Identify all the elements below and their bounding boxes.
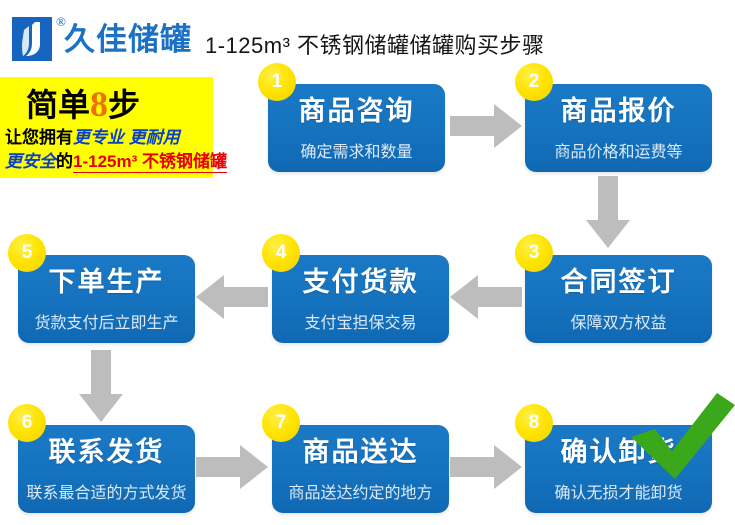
- step-sub-4: 支付宝担保交易: [272, 316, 449, 332]
- arrow-step7-to-step8: [450, 445, 522, 489]
- step-badge-5: 5: [8, 234, 46, 272]
- step-box-6[interactable]: 联系发货 联系最合适的方式发货: [18, 425, 195, 513]
- step-box-3[interactable]: 合同签订 保障双方权益: [525, 255, 712, 343]
- step-box-7[interactable]: 商品送达 商品送达约定的地方: [272, 425, 449, 513]
- arrow-step5-to-step6: [79, 350, 123, 422]
- arrow-step4-to-step5: [196, 275, 268, 319]
- promo-banner: 简单8步 让您拥有更专业 更耐用 更安全的1-125m³ 不锈钢储罐: [0, 77, 213, 178]
- step-box-2[interactable]: 商品报价 商品价格和运费等: [525, 84, 712, 172]
- logo-text: 久佳储罐: [64, 24, 192, 55]
- arrow-step3-to-step4: [450, 275, 522, 319]
- step-box-4[interactable]: 支付货款 支付宝担保交易: [272, 255, 449, 343]
- step-sub-7: 商品送达约定的地方: [272, 486, 449, 502]
- step-badge-3: 3: [515, 234, 553, 272]
- promo-subline-2-red: 1-125m³ 不锈钢储罐: [73, 152, 227, 173]
- step-title-6: 联系发货: [18, 439, 195, 466]
- promo-subline-2-black: 的: [56, 152, 73, 171]
- promo-subline-2: 更安全的1-125m³ 不锈钢储罐: [5, 153, 227, 170]
- step-title-2: 商品报价: [525, 98, 712, 125]
- step-sub-5: 货款支付后立即生产: [18, 316, 195, 332]
- header: ® 久佳储罐 1-125m³ 不锈钢储罐储罐购买步骤: [0, 0, 735, 72]
- step-badge-8: 8: [515, 404, 553, 442]
- step-title-5: 下单生产: [18, 269, 195, 296]
- step-badge-2: 2: [515, 63, 553, 101]
- step-box-5[interactable]: 下单生产 货款支付后立即生产: [18, 255, 195, 343]
- promo-headline: 简单8步: [26, 82, 140, 127]
- arrow-step2-to-step3: [586, 176, 630, 248]
- step-sub-3: 保障双方权益: [525, 316, 712, 332]
- step-sub-1: 确定需求和数量: [268, 145, 445, 161]
- step-sub-2: 商品价格和运费等: [525, 145, 712, 161]
- step-title-4: 支付货款: [272, 269, 449, 296]
- promo-subline-2-blue: 更安全: [5, 152, 56, 171]
- step-badge-7: 7: [262, 404, 300, 442]
- promo-subline-1: 让您拥有更专业 更耐用: [5, 129, 180, 146]
- promo-subline-1-blue: 更专业 更耐用: [73, 128, 180, 147]
- promo-headline-prefix: 简单: [26, 87, 90, 123]
- promo-headline-suffix: 步: [108, 87, 140, 123]
- step-sub-6: 联系最合适的方式发货: [18, 486, 195, 502]
- arrow-step6-to-step7: [196, 445, 268, 489]
- promo-headline-number: 8: [90, 84, 108, 124]
- page-title: 1-125m³ 不锈钢储罐储罐购买步骤: [205, 28, 545, 60]
- step-badge-4: 4: [262, 234, 300, 272]
- step-sub-8: 确认无损才能卸货: [525, 486, 712, 502]
- checkmark-icon: [625, 393, 735, 486]
- registered-trademark-icon: ®: [56, 15, 66, 28]
- step-title-1: 商品咨询: [268, 98, 445, 125]
- promo-subline-1-black: 让您拥有: [5, 128, 73, 147]
- logo-icon: ®: [12, 17, 52, 61]
- step-box-1[interactable]: 商品咨询 确定需求和数量: [268, 84, 445, 172]
- arrow-step1-to-step2: [450, 104, 522, 148]
- step-title-3: 合同签订: [525, 269, 712, 296]
- flowchart-page: ® 久佳储罐 1-125m³ 不锈钢储罐储罐购买步骤 简单8步 让您拥有更专业 …: [0, 0, 735, 525]
- logo-j-glyph: [21, 22, 43, 56]
- brand-logo: ® 久佳储罐: [12, 17, 192, 61]
- step-badge-1: 1: [258, 63, 296, 101]
- step-badge-6: 6: [8, 404, 46, 442]
- step-title-7: 商品送达: [272, 439, 449, 466]
